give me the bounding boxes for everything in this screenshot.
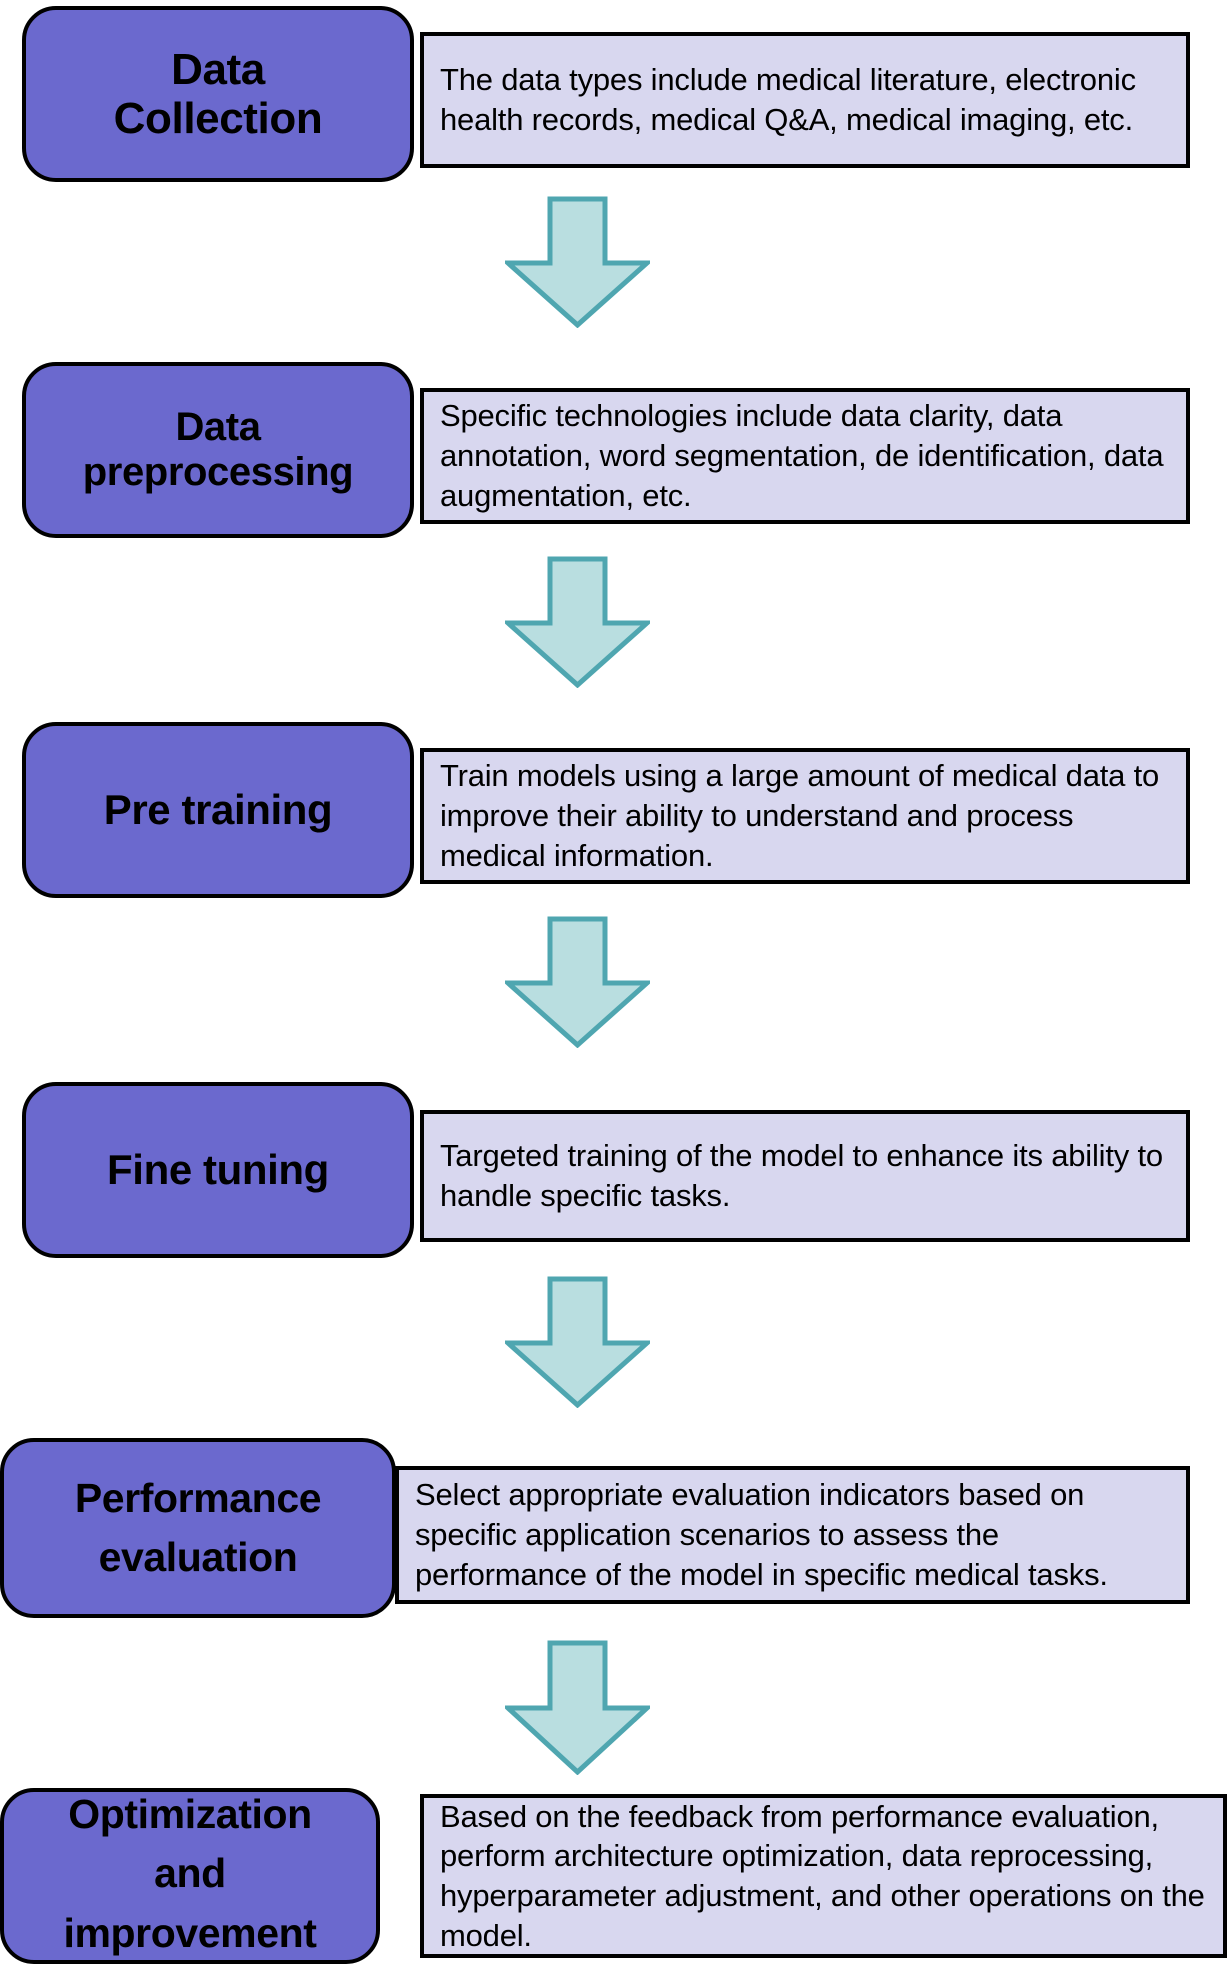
- description-box-data-collection: The data types include medical literatur…: [420, 32, 1190, 168]
- stage-row-pre-training: Pre training Train models using a large …: [0, 716, 1227, 906]
- stage-row-data-preprocessing: Data preprocessing Specific technologies…: [0, 356, 1227, 546]
- flowchart-canvas: Data Collection The data types include m…: [0, 0, 1227, 1968]
- stage-label-fine-tuning: Fine tuning: [103, 1146, 333, 1193]
- stage-row-optimization-and-improvement: Optimization and improvement Based on th…: [0, 1778, 1227, 1968]
- description-box-data-preprocessing: Specific technologies include data clari…: [420, 388, 1190, 524]
- down-arrow-icon: [505, 1276, 650, 1408]
- description-text-data-preprocessing: Specific technologies include data clari…: [424, 396, 1186, 517]
- stage-box-fine-tuning[interactable]: Fine tuning: [22, 1082, 414, 1258]
- stage-box-optimization-and-improvement[interactable]: Optimization and improvement: [0, 1788, 380, 1964]
- stage-row-fine-tuning: Fine tuning Targeted training of the mod…: [0, 1076, 1227, 1266]
- description-text-optimization-and-improvement: Based on the feedback from performance e…: [424, 1797, 1223, 1956]
- description-text-performance-evaluation: Select appropriate evaluation indicators…: [399, 1475, 1186, 1596]
- stage-label-data-preprocessing: Data preprocessing: [79, 405, 357, 495]
- stage-box-pre-training[interactable]: Pre training: [22, 722, 414, 898]
- stage-box-data-preprocessing[interactable]: Data preprocessing: [22, 362, 414, 538]
- stage-box-data-collection[interactable]: Data Collection: [22, 6, 414, 182]
- stage-box-performance-evaluation[interactable]: Performance evaluation: [0, 1438, 396, 1618]
- description-box-fine-tuning: Targeted training of the model to enhanc…: [420, 1110, 1190, 1242]
- description-box-performance-evaluation: Select appropriate evaluation indicators…: [395, 1466, 1190, 1604]
- description-box-pre-training: Train models using a large amount of med…: [420, 748, 1190, 884]
- down-arrow-icon: [505, 556, 650, 688]
- description-text-fine-tuning: Targeted training of the model to enhanc…: [424, 1136, 1186, 1217]
- description-text-pre-training: Train models using a large amount of med…: [424, 756, 1186, 877]
- stage-row-performance-evaluation: Performance evaluation Select appropriat…: [0, 1432, 1227, 1628]
- stage-label-pre-training: Pre training: [100, 786, 337, 833]
- stage-label-data-collection: Data Collection: [110, 45, 327, 144]
- stage-row-data-collection: Data Collection The data types include m…: [0, 0, 1227, 190]
- down-arrow-icon: [505, 916, 650, 1048]
- stage-label-performance-evaluation: Performance evaluation: [71, 1469, 325, 1588]
- description-text-data-collection: The data types include medical literatur…: [424, 60, 1186, 141]
- down-arrow-icon: [505, 1640, 650, 1775]
- down-arrow-icon: [505, 196, 650, 328]
- description-box-optimization-and-improvement: Based on the feedback from performance e…: [420, 1794, 1227, 1958]
- stage-label-optimization-and-improvement: Optimization and improvement: [59, 1785, 320, 1963]
